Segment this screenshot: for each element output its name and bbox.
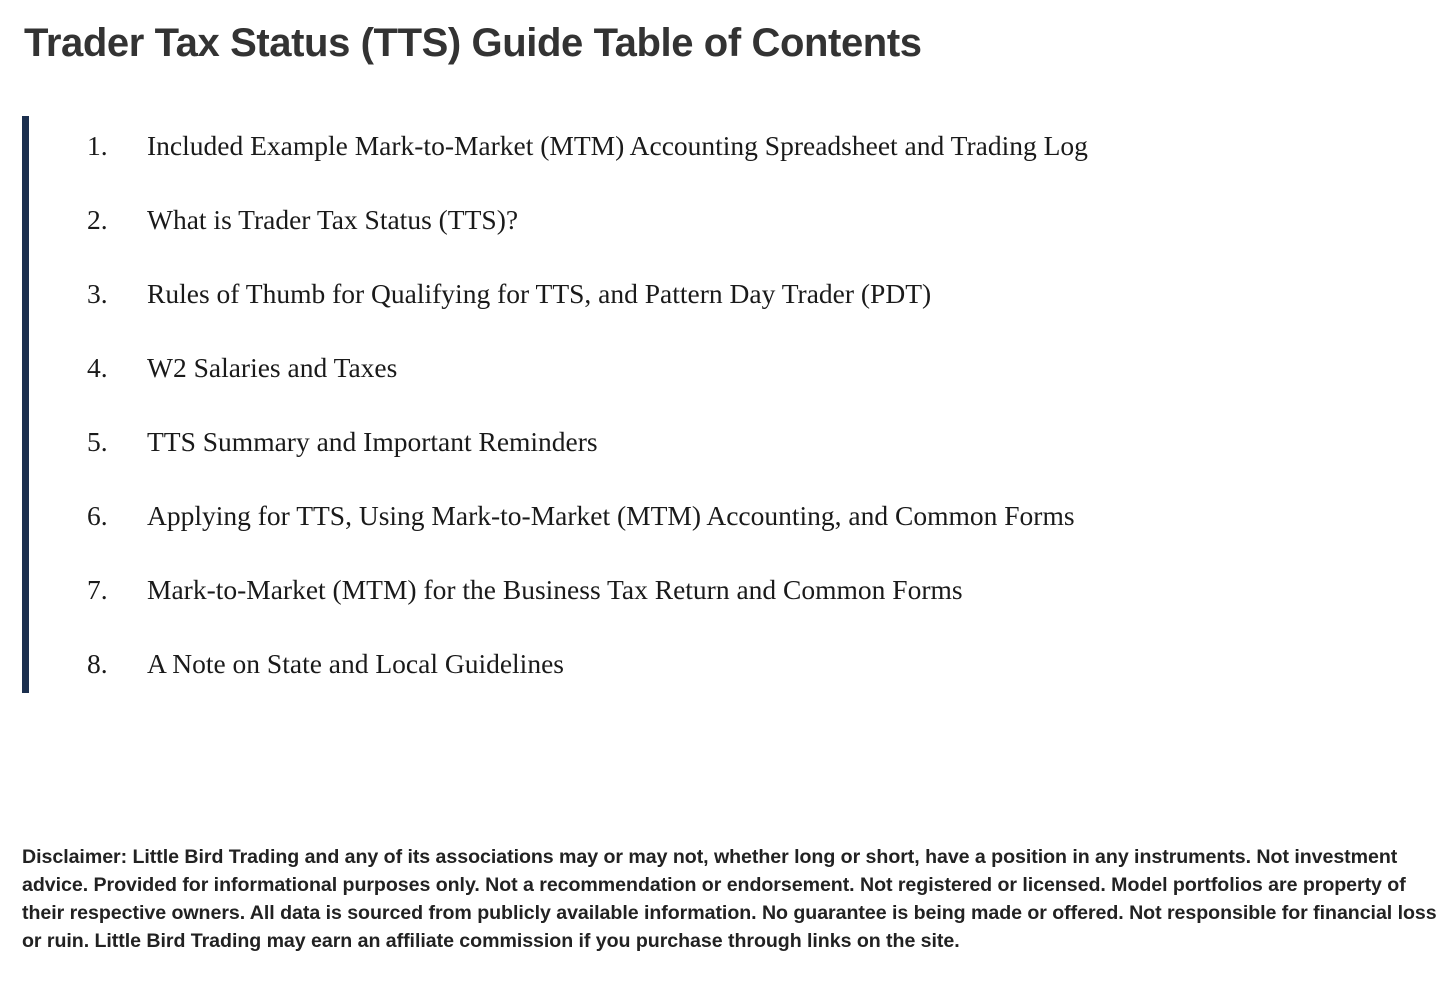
list-item[interactable]: Mark-to-Market (MTM) for the Business Ta… — [87, 560, 1442, 619]
toc-item-label: Applying for TTS, Using Mark-to-Market (… — [147, 486, 1442, 545]
list-item[interactable]: A Note on State and Local Guidelines — [87, 634, 1442, 693]
toc-item-label: Mark-to-Market (MTM) for the Business Ta… — [147, 560, 1442, 619]
toc-item-label: A Note on State and Local Guidelines — [147, 634, 1442, 693]
toc-item-label: Rules of Thumb for Qualifying for TTS, a… — [147, 264, 1442, 323]
table-of-contents: Included Example Mark-to-Market (MTM) Ac… — [22, 116, 1442, 693]
disclaimer-text: Disclaimer: Little Bird Trading and any … — [22, 843, 1442, 955]
list-item[interactable]: Rules of Thumb for Qualifying for TTS, a… — [87, 264, 1442, 323]
list-item[interactable]: What is Trader Tax Status (TTS)? — [87, 190, 1442, 249]
list-item[interactable]: TTS Summary and Important Reminders — [87, 412, 1442, 471]
toc-item-label: Included Example Mark-to-Market (MTM) Ac… — [147, 116, 1442, 175]
list-item[interactable]: Applying for TTS, Using Mark-to-Market (… — [87, 486, 1442, 545]
list-item[interactable]: W2 Salaries and Taxes — [87, 338, 1442, 397]
toc-item-label: W2 Salaries and Taxes — [147, 338, 1442, 397]
toc-list: Included Example Mark-to-Market (MTM) Ac… — [29, 116, 1442, 693]
list-item[interactable]: Included Example Mark-to-Market (MTM) Ac… — [87, 116, 1442, 175]
toc-item-label: What is Trader Tax Status (TTS)? — [147, 190, 1442, 249]
document-page: Trader Tax Status (TTS) Guide Table of C… — [0, 0, 1456, 1002]
page-title: Trader Tax Status (TTS) Guide Table of C… — [24, 20, 922, 67]
toc-item-label: TTS Summary and Important Reminders — [147, 412, 1442, 471]
